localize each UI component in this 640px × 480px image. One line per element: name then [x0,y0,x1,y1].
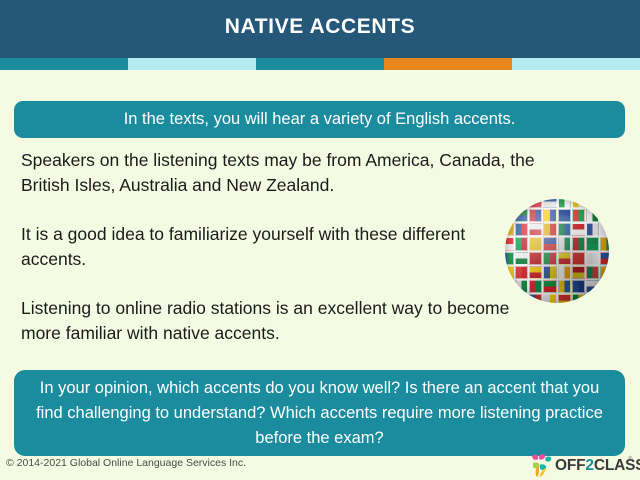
accent-segment-teal-mid [256,58,384,70]
flag-tile [558,237,571,250]
flag-tile [600,209,609,222]
flag-tile [558,266,571,279]
header-accent-strip [0,58,640,70]
logo-word-off: OFF [555,457,585,474]
body-content: Speakers on the listening texts may be f… [21,148,566,346]
flag-tile [529,266,542,279]
slide-canvas: NATIVE ACCENTS In the texts, you will he… [0,0,640,480]
logo-word-number: 2 [585,457,593,474]
flag-tile [572,237,585,250]
flag-tile-grid [505,199,609,303]
flag-tile [515,223,528,236]
flag-tile [515,266,528,279]
flag-tile [572,280,585,293]
logo-word-class: CLASS [594,457,640,474]
flag-tile [515,280,528,293]
flag-tile [586,199,599,208]
accent-segment-lightblue-2 [512,58,640,70]
body-paragraph-3: Listening to online radio stations is an… [21,296,541,346]
flag-tile [505,223,514,236]
flag-tile [515,252,528,265]
flag-tile [586,223,599,236]
flag-tile [505,209,514,222]
flag-tile [529,209,542,222]
flag-tile [586,266,599,279]
flag-tile [600,252,609,265]
flag-tile [505,199,514,208]
discussion-question-text: In your opinion, which accents do you kn… [28,376,611,451]
flag-tile [558,280,571,293]
copyright-text: © 2014-2021 Global Online Language Servi… [6,458,246,469]
flag-tile [543,252,556,265]
flag-tile [529,223,542,236]
flag-tile [505,294,514,303]
flag-tile [600,237,609,250]
flag-tile [543,199,556,208]
discussion-question-box: In your opinion, which accents do you kn… [14,370,625,456]
flag-tile [558,199,571,208]
flag-tile [505,252,514,265]
slide-header: NATIVE ACCENTS [0,0,640,58]
body-paragraph-2: It is a good idea to familiarize yoursel… [21,222,491,272]
flag-tile [543,237,556,250]
flag-tile [558,209,571,222]
flag-tile [572,223,585,236]
flag-tile [558,223,571,236]
flag-globe-image [505,199,609,303]
flag-tile [600,294,609,303]
flag-tile [505,266,514,279]
flag-tile [572,294,585,303]
logo-leaf-icon [529,452,557,478]
flag-tile [543,266,556,279]
flag-tile [586,209,599,222]
flag-tile [515,209,528,222]
flag-tile [543,280,556,293]
flag-tile [543,209,556,222]
flag-tile [505,237,514,250]
statement-banner: In the texts, you will hear a variety of… [14,101,625,138]
statement-text: In the texts, you will hear a variety of… [124,110,516,128]
flag-tile [515,294,528,303]
flag-tile [505,280,514,293]
flag-tile [586,252,599,265]
flag-tile [600,223,609,236]
accent-segment-teal-left [0,58,128,70]
flag-tile [572,252,585,265]
flag-tile [600,266,609,279]
page-title: NATIVE ACCENTS [225,16,415,37]
flag-tile [529,280,542,293]
flag-tile [558,252,571,265]
flag-tile [515,237,528,250]
flag-tile [529,294,542,303]
flag-tile [543,294,556,303]
flag-tile [572,266,585,279]
flag-tile [600,280,609,293]
flag-tile [529,252,542,265]
flag-tile [572,209,585,222]
flag-tile [586,280,599,293]
accent-segment-lightblue-1 [128,58,256,70]
off2class-logo: OFF2CLASS ® [529,452,635,478]
flag-tile [558,294,571,303]
flag-tile [543,223,556,236]
flag-tile [529,199,542,208]
flag-tile [586,237,599,250]
flag-tile [586,294,599,303]
flag-tile [515,199,528,208]
accent-segment-orange [384,58,512,70]
logo-trademark: ® [628,457,632,463]
flag-tile [529,237,542,250]
body-paragraph-1: Speakers on the listening texts may be f… [21,148,541,198]
flag-tile [572,199,585,208]
flag-tile [600,199,609,208]
